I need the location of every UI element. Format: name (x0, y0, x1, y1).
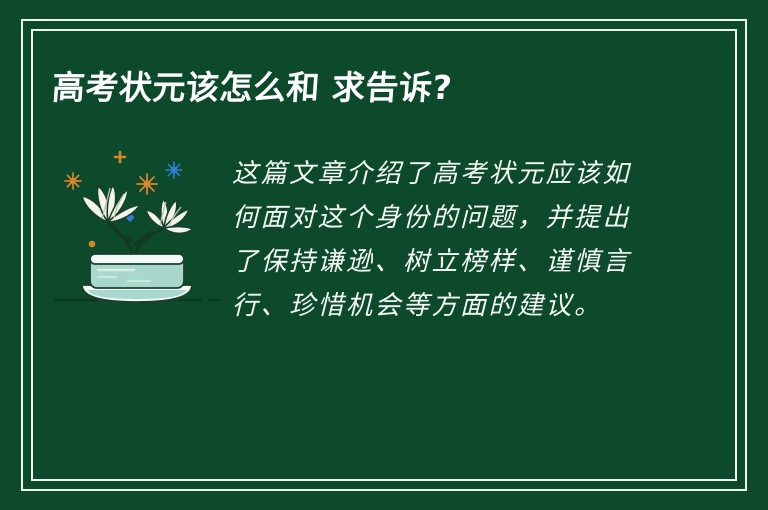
pot-body (90, 254, 184, 288)
potted-flower-illustration (52, 140, 222, 315)
sparkle-orange-dot (89, 241, 96, 248)
body-line: 行、珍惜机会等方面的建议。 (232, 284, 662, 328)
body-line: 何面对这个身份的问题，并提出 (232, 196, 662, 240)
body-text: 这篇文章介绍了高考状元应该如 何面对这个身份的问题，并提出 了保持谦逊、树立榜样… (232, 140, 662, 328)
sparkle-blue-burst-right (166, 162, 182, 178)
body-line: 这篇文章介绍了高考状元应该如 (232, 152, 662, 196)
body-line: 了保持谦逊、树立榜样、谨慎言 (232, 240, 662, 284)
content-row: 这篇文章介绍了高考状元应该如 何面对这个身份的问题，并提出 了保持谦逊、树立榜样… (52, 140, 708, 328)
sparkle-orange-plus-top (115, 152, 125, 162)
sparkle-orange-burst-center (137, 174, 157, 194)
poster-canvas: 高考状元该怎么和 求告诉? (0, 0, 768, 510)
page-title: 高考状元该怎么和 求告诉? (51, 68, 454, 108)
sparkle-orange-burst-left (65, 173, 81, 189)
flower-right (146, 199, 193, 233)
